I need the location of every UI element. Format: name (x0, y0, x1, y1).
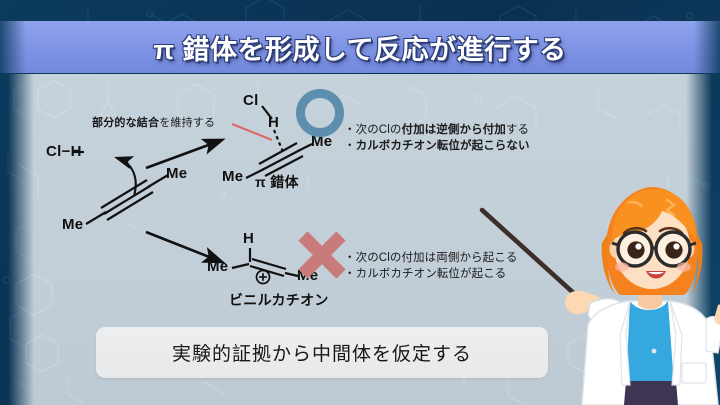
notes-favored-line-1: ・次のClの付加は逆側から付加する (344, 122, 530, 138)
character-eye-right (665, 241, 682, 258)
favored-line1-plain-b: する (506, 124, 529, 136)
pi-complex-h-label: H (268, 114, 279, 131)
reactant-methyl-bottom: Me (62, 216, 83, 233)
x-mark-icon (296, 229, 348, 281)
notes-favored-line-2: ・カルボカチオン転位が起こらない (344, 138, 530, 154)
character-shirt (626, 301, 674, 385)
annotation-bold-text: 部分的な結合 (92, 117, 159, 129)
annotation-plain-text: を維持する (159, 117, 215, 129)
vinyl-cation-h-label: H (243, 230, 254, 247)
vinyl-cation-label: ビニルカチオン (229, 290, 329, 310)
title-edge-right (694, 21, 720, 73)
pi-complex-methyl-left: Me (222, 168, 243, 185)
character-skirt (624, 381, 678, 405)
favored-line1-bold: 付加は逆側から付加 (401, 124, 505, 136)
pi-complex-cl-label: Cl (243, 92, 259, 109)
favored-line2-bold: カルボカチオン転位が起こらない (356, 140, 530, 152)
character-coat-pocket (682, 363, 706, 383)
character-eye-left (627, 241, 644, 258)
pi-complex-label: π 錯体 (255, 172, 299, 192)
page-title: π 錯体を形成して反応が進行する (153, 28, 566, 67)
character-coat-button (652, 349, 657, 354)
circle-mark-icon (296, 89, 344, 137)
vinyl-cation-methyl-left: Me (207, 258, 228, 275)
favored-line1-plain-a: ・次のClの (344, 124, 401, 136)
title-edge-left (0, 21, 26, 73)
reactant-methyl-top: Me (166, 165, 187, 182)
partial-bond-annotation: 部分的な結合を維持する (92, 114, 215, 130)
favored-line2-plain-a: ・ (344, 140, 356, 152)
slide-root: π 錯体を形成して反応が進行する (0, 0, 720, 405)
reactant-hcl-label: Cl−H (46, 143, 82, 160)
slide-title-bar: π 錯体を形成して反応が進行する (0, 21, 720, 73)
pointer-stick-icon (482, 210, 578, 297)
notes-favored: ・次のClの付加は逆側から付加する ・カルボカチオン転位が起こらない (344, 122, 530, 154)
teacher-character (470, 185, 720, 405)
caption-text: 実験的証拠から中間体を仮定する (172, 339, 472, 366)
